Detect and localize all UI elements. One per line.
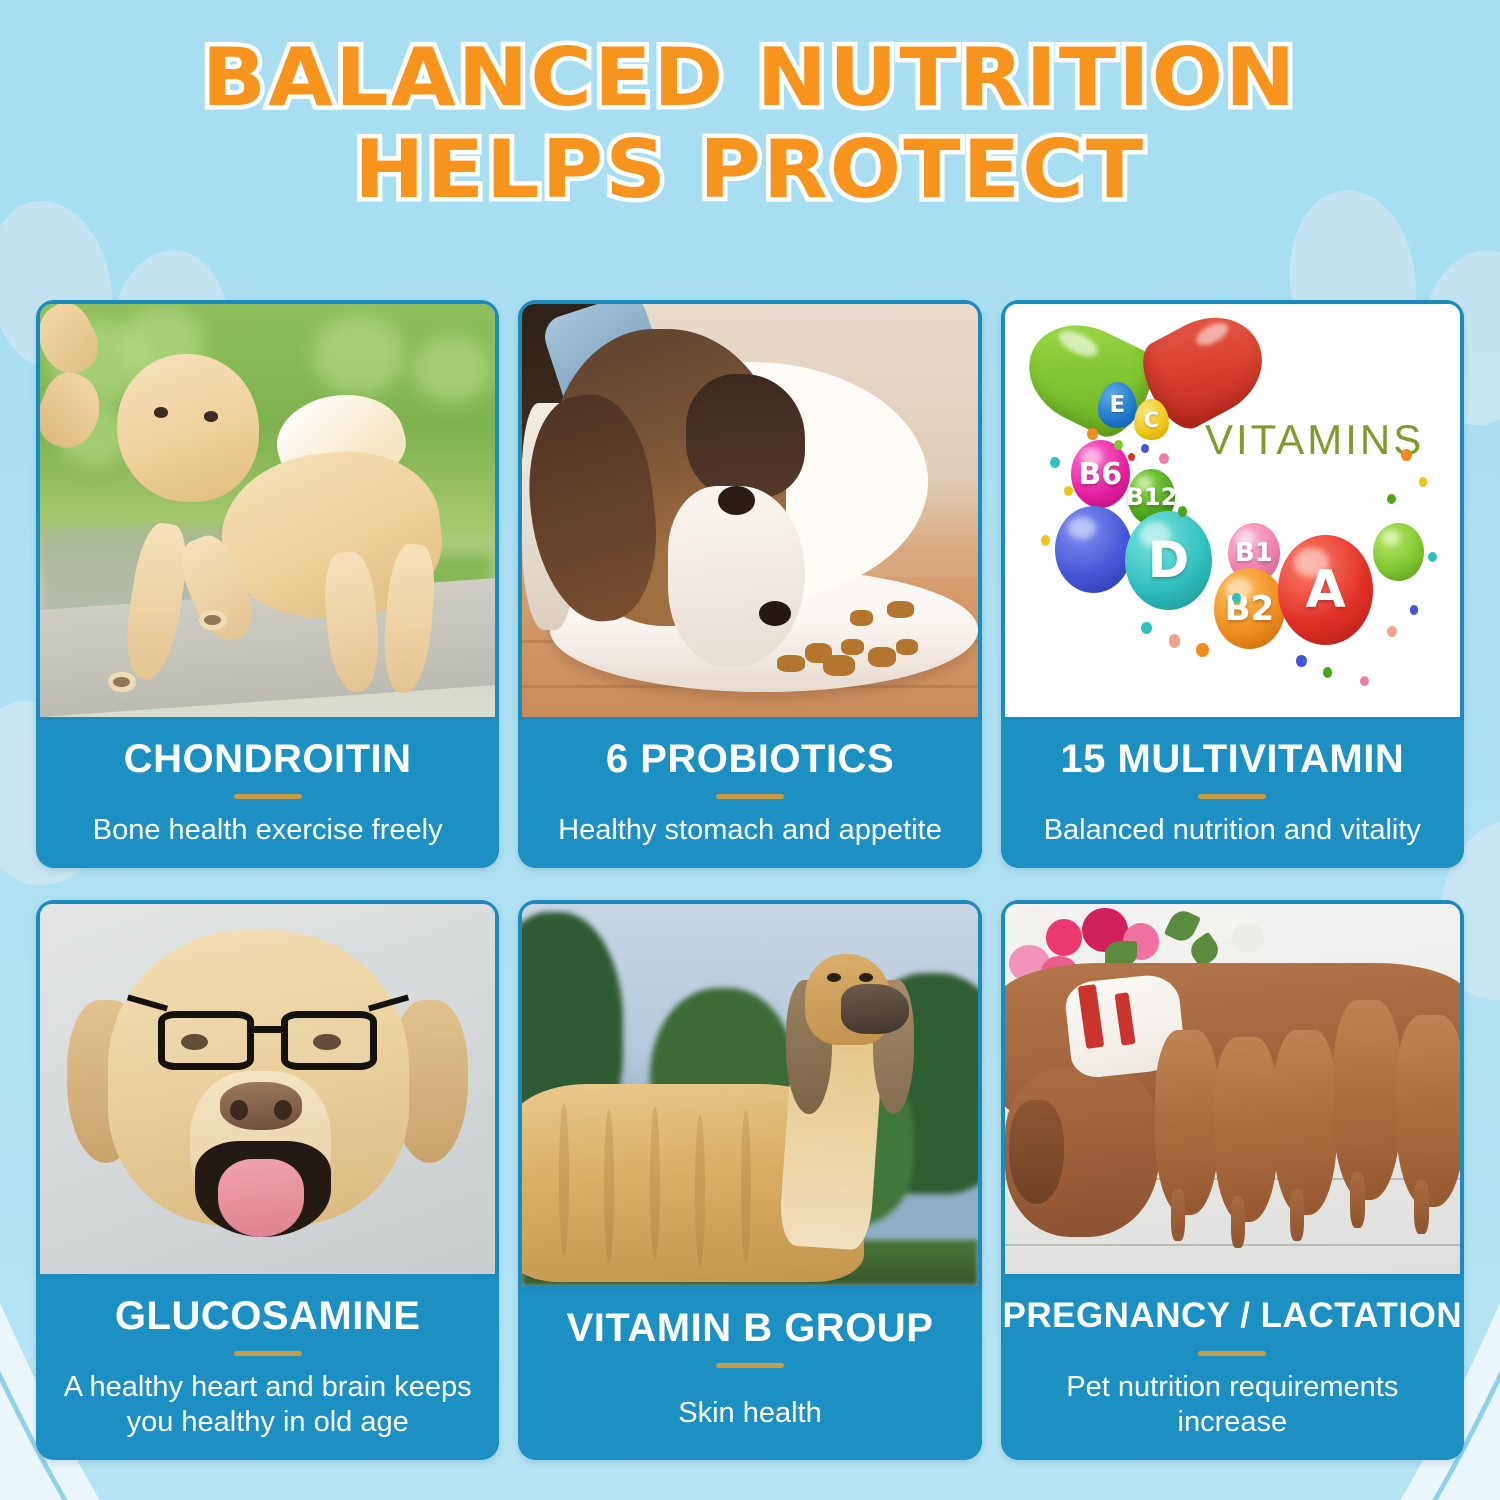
vitamin-label-B2: B2 — [1214, 568, 1285, 649]
title-divider — [234, 1351, 302, 1356]
caption-multivitamin: 15 MULTIVITAMIN Balanced nutrition and v… — [1001, 721, 1464, 868]
page-header: BALANCED NUTRITION HELPS PROTECT — [0, 0, 1500, 250]
card-subtitle: A healthy heart and brain keeps you heal… — [46, 1370, 489, 1440]
benefit-card-pregnancy-lactation[interactable]: PREGNANCY / LACTATION Pet nutrition requ… — [1001, 900, 1464, 1460]
photo-afghan-hound — [518, 900, 981, 1290]
vitamin-label-B6: B6 — [1071, 440, 1130, 508]
title-divider — [716, 1363, 784, 1368]
card-title: VITAMIN B GROUP — [567, 1306, 934, 1350]
benefits-grid: CHONDROITIN Bone health exercise freely — [36, 300, 1464, 1460]
vitamin-label-D: D — [1125, 511, 1212, 610]
photo-golden-retriever-running — [36, 300, 499, 721]
card-title: PREGNANCY / LACTATION — [1002, 1294, 1462, 1338]
vitamin-label-A: A — [1278, 535, 1374, 644]
benefit-card-probiotics[interactable]: 6 PROBIOTICS Healthy stomach and appetit… — [518, 300, 981, 868]
card-title: CHONDROITIN — [124, 737, 412, 781]
benefit-card-glucosamine[interactable]: GLUCOSAMINE A healthy heart and brain ke… — [36, 900, 499, 1460]
photo-vitamins-graphic: E C B6 B12 D B1 B2 A VITAMINS — [1001, 300, 1464, 721]
vitamin-sphere-green — [1373, 523, 1423, 581]
title-divider — [1198, 794, 1266, 799]
card-title: GLUCOSAMINE — [115, 1294, 421, 1338]
vitamin-label-E: E — [1098, 382, 1137, 427]
headline-line-2: HELPS PROTECT — [354, 124, 1145, 216]
benefit-card-chondroitin[interactable]: CHONDROITIN Bone health exercise freely — [36, 300, 499, 868]
title-divider — [234, 794, 302, 799]
title-divider — [716, 794, 784, 799]
card-subtitle: Bone health exercise freely — [93, 813, 443, 848]
title-divider — [1198, 1351, 1266, 1356]
card-title: 6 PROBIOTICS — [606, 737, 894, 781]
card-subtitle: Balanced nutrition and vitality — [1044, 813, 1421, 848]
photo-labrador-with-glasses — [36, 900, 499, 1278]
caption-glucosamine: GLUCOSAMINE A healthy heart and brain ke… — [36, 1278, 499, 1460]
benefit-card-vitamin-b-group[interactable]: VITAMIN B GROUP Skin health — [518, 900, 981, 1460]
caption-vitamin-b-group: VITAMIN B GROUP Skin health — [518, 1290, 981, 1460]
caption-probiotics: 6 PROBIOTICS Healthy stomach and appetit… — [518, 721, 981, 868]
headline-line-1: BALANCED NUTRITION — [202, 32, 1298, 124]
photo-mother-dog-nursing-puppies — [1001, 900, 1464, 1278]
caption-chondroitin: CHONDROITIN Bone health exercise freely — [36, 721, 499, 868]
vitamins-word: VITAMINS — [1205, 416, 1424, 464]
benefit-card-multivitamin[interactable]: E C B6 B12 D B1 B2 A VITAMINS — [1001, 300, 1464, 868]
card-subtitle: Pet nutrition requirements increase — [1011, 1370, 1454, 1440]
card-subtitle: Healthy stomach and appetite — [558, 813, 942, 848]
vitamin-sphere-blue — [1055, 506, 1132, 593]
caption-pregnancy-lactation: PREGNANCY / LACTATION Pet nutrition requ… — [1001, 1278, 1464, 1460]
card-subtitle: Skin health — [678, 1396, 822, 1431]
vitamin-label-C: C — [1134, 399, 1168, 440]
card-title: 15 MULTIVITAMIN — [1060, 737, 1404, 781]
photo-beagle-puppy-eating — [518, 300, 981, 721]
